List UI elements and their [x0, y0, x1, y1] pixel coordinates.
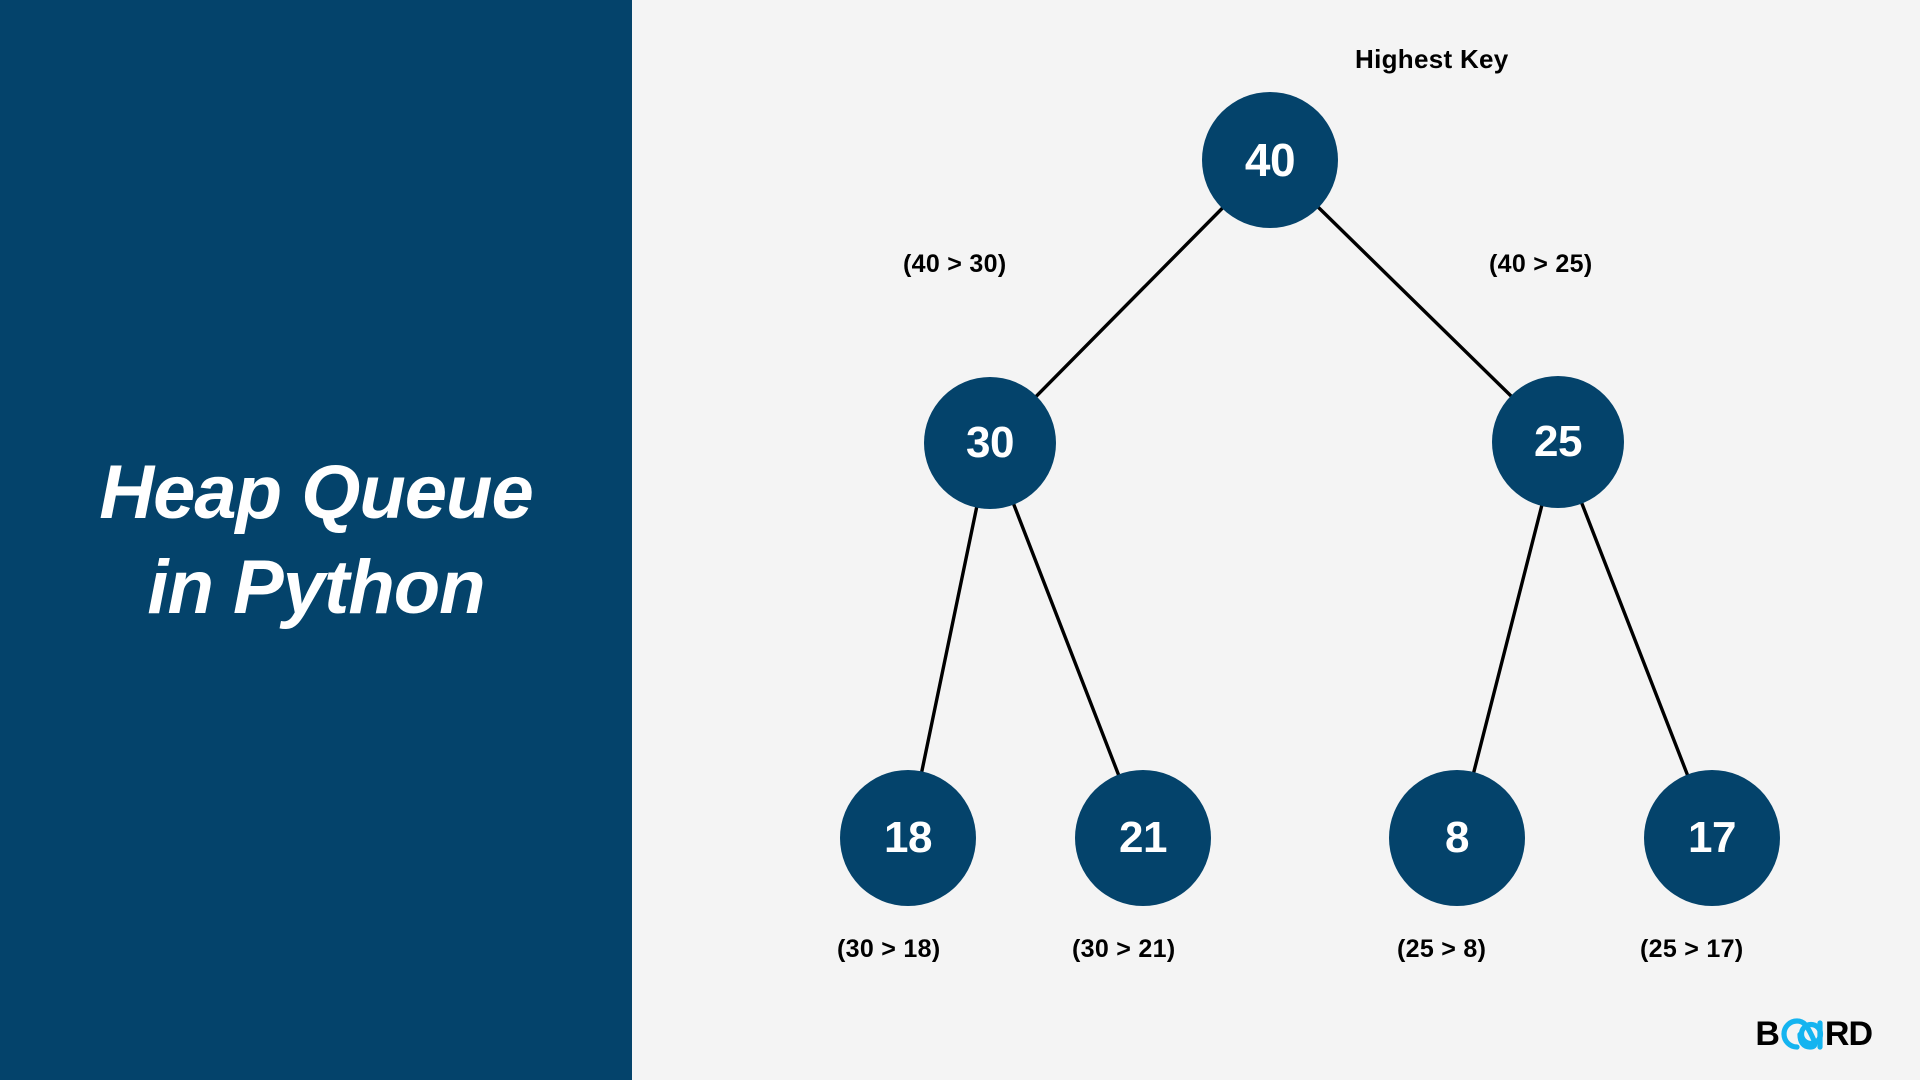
infinity-icon — [1780, 1017, 1824, 1051]
logo-suffix-text: RD — [1825, 1017, 1872, 1051]
edge-label-30-21: (30 > 21) — [1072, 935, 1175, 964]
edge-label-25-8: (25 > 8) — [1397, 935, 1486, 964]
title-block: Heap Queue in Python — [0, 445, 632, 635]
tree-node-8: 8 — [1389, 770, 1525, 906]
tree-node-40: 40 — [1202, 92, 1338, 228]
edge-label-40-25: (40 > 25) — [1489, 250, 1592, 279]
page-title-line-2: in Python — [40, 540, 592, 635]
tree-node-25: 25 — [1492, 376, 1624, 508]
tree-node-30: 30 — [924, 377, 1056, 509]
tree-node-value: 8 — [1445, 813, 1469, 863]
page-title-line-1: Heap Queue — [40, 445, 592, 540]
tree-node-value: 30 — [966, 418, 1014, 468]
edge-label-25-17: (25 > 17) — [1640, 935, 1743, 964]
slide-canvas: Heap Queue in Python Highest Key 4030251… — [0, 0, 1920, 1080]
highest-key-annotation: Highest Key — [1355, 44, 1509, 75]
tree-node-value: 18 — [884, 813, 932, 863]
tree-node-18: 18 — [840, 770, 976, 906]
brand-logo: B RD — [1755, 1016, 1872, 1052]
edge-label-30-18: (30 > 18) — [837, 935, 940, 964]
title-panel: Heap Queue in Python — [0, 0, 632, 1080]
tree-node-17: 17 — [1644, 770, 1780, 906]
tree-node-value: 25 — [1534, 417, 1582, 467]
tree-node-value: 21 — [1119, 813, 1167, 863]
tree-node-value: 17 — [1688, 813, 1736, 863]
edge-label-40-30: (40 > 30) — [903, 250, 1006, 279]
logo-prefix-text: B — [1755, 1017, 1779, 1051]
tree-node-value: 40 — [1245, 133, 1295, 187]
tree-node-21: 21 — [1075, 770, 1211, 906]
